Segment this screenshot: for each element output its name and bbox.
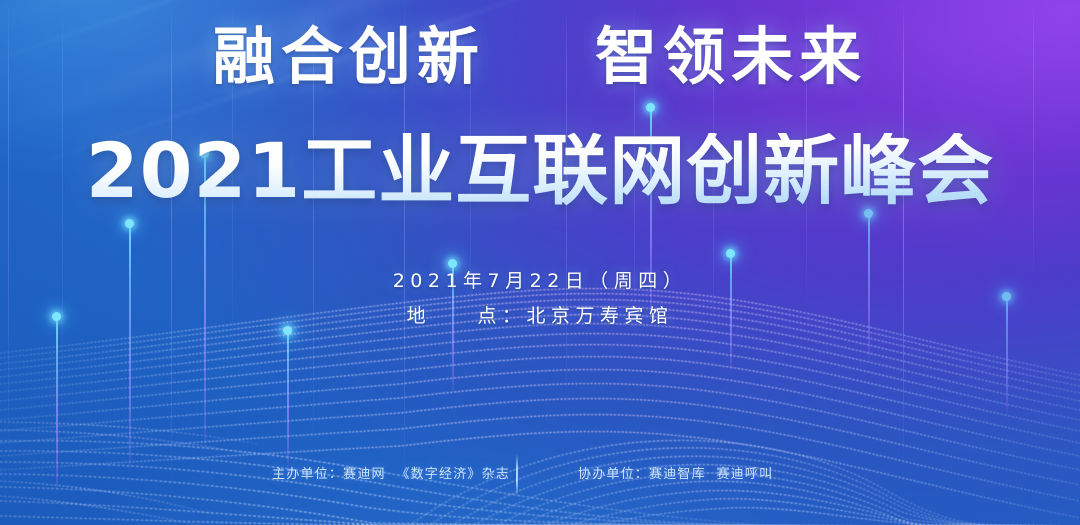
event-poster: 融合创新 智领未来 2021工业互联网创新峰会 2021年7月22日（周四） 地… (0, 0, 1080, 525)
poster-headline: 融合创新 智领未来 (0, 26, 1080, 88)
event-date: 2021年7月22日（周四） (0, 266, 1080, 293)
poster-footer: 主办单位：赛迪网 《数字经济》杂志 协办单位：赛迪智库 赛迪呼叫 (0, 463, 1080, 487)
poster-main-title: 2021工业互联网创新峰会 (0, 133, 1080, 209)
poster-content: 融合创新 智领未来 2021工业互联网创新峰会 2021年7月22日（周四） 地… (0, 0, 1080, 525)
event-venue: 地 点：北京万寿宾馆 (0, 301, 1080, 328)
footer-divider (516, 454, 518, 496)
footer-cohost-organizer: 协办单位：赛迪智库 赛迪呼叫 (578, 463, 773, 482)
footer-host-organizer: 主办单位：赛迪网 《数字经济》杂志 (272, 463, 510, 482)
